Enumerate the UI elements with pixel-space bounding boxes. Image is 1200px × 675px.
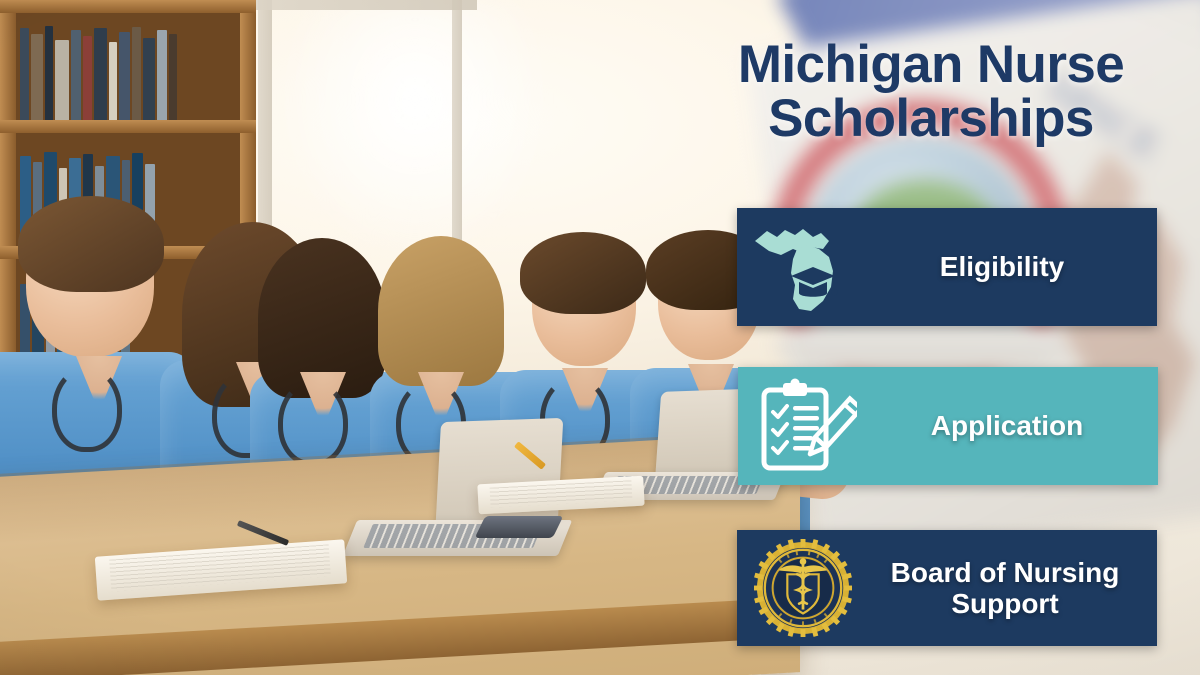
caduceus-seal-icon — [737, 539, 869, 637]
card-board-label-line2: Support — [951, 588, 1058, 619]
tablet-device — [475, 516, 564, 538]
card-board-label-line1: Board of Nursing — [891, 557, 1120, 588]
books-row — [20, 22, 234, 120]
card-application-label: Application — [874, 410, 1158, 441]
window-mullion — [247, 0, 477, 10]
card-board-of-nursing-support[interactable]: Board of Nursing Support — [737, 530, 1157, 646]
page-title: Michigan Nurse Scholarships — [690, 38, 1172, 146]
poster-canvas: SPICE A TVEBOR — [0, 0, 1200, 675]
page-title-line2: Scholarships — [690, 92, 1172, 146]
card-eligibility[interactable]: Eligibility — [737, 208, 1157, 326]
page-title-line1: Michigan Nurse — [738, 35, 1124, 94]
clipboard-checklist-pencil-icon — [738, 378, 874, 474]
michigan-graduation-cap-icon — [737, 219, 869, 315]
card-eligibility-label: Eligibility — [869, 251, 1157, 282]
card-board-label: Board of Nursing Support — [869, 557, 1157, 620]
card-application[interactable]: Application — [738, 367, 1158, 485]
